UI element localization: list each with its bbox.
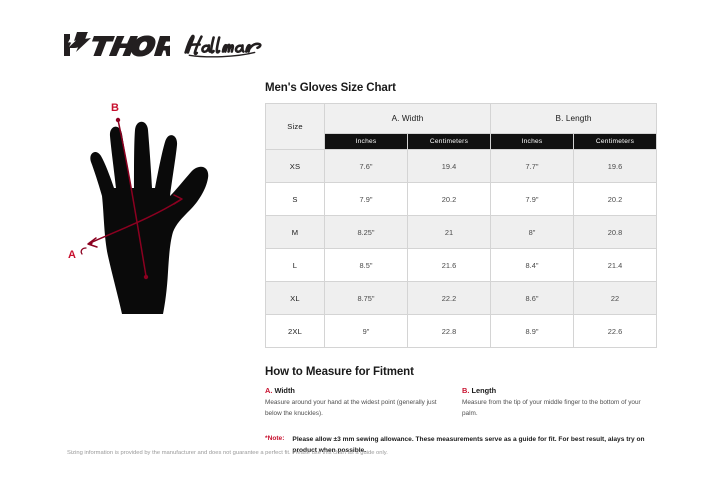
diagram-label-b: B — [111, 102, 119, 114]
cell-width-in: 8.5" — [325, 249, 408, 282]
column-header-width-centimeters: Centimeters — [408, 134, 491, 150]
column-header-length-inches: Inches — [491, 134, 574, 150]
cell-size: XS — [266, 150, 325, 183]
diagram-label-a: A — [68, 249, 76, 261]
cell-width-in: 8.25" — [325, 216, 408, 249]
cell-width-cm: 21.6 — [408, 249, 491, 282]
cell-length-in: 7.7" — [491, 150, 574, 183]
cell-width-cm: 22.2 — [408, 282, 491, 315]
table-row: XL 8.75" 22.2 8.6" 22 — [266, 282, 657, 315]
measure-item-heading: A. Width — [265, 386, 450, 395]
column-header-size: Size — [266, 104, 325, 150]
measure-body-b: Measure from the tip of your middle fing… — [462, 398, 647, 419]
cell-width-cm: 22.8 — [408, 315, 491, 348]
hallman-logo — [180, 31, 264, 64]
table-header: Size A. Width B. Length Inches Centimete… — [266, 104, 657, 150]
table-body: XS 7.6" 19.4 7.7" 19.6 S 7.9" 20.2 7.9" … — [266, 150, 657, 348]
table-row: M 8.25" 21 8" 20.8 — [266, 216, 657, 249]
cell-length-in: 8.9" — [491, 315, 574, 348]
cell-length-cm: 21.4 — [574, 249, 657, 282]
how-to-measure-columns: A. Width Measure around your hand at the… — [265, 386, 659, 419]
cell-length-cm: 20.8 — [574, 216, 657, 249]
cell-width-cm: 19.4 — [408, 150, 491, 183]
measure-label-b: Length — [469, 386, 496, 395]
cell-length-cm: 19.6 — [574, 150, 657, 183]
table-row: XS 7.6" 19.4 7.7" 19.6 — [266, 150, 657, 183]
measure-body-a: Measure around your hand at the widest p… — [265, 398, 450, 419]
cell-length-cm: 22.6 — [574, 315, 657, 348]
cell-size: 2XL — [266, 315, 325, 348]
table-header-row-groups: Size A. Width B. Length — [266, 104, 657, 134]
column-group-header-length: B. Length — [491, 104, 657, 134]
column-header-length-centimeters: Centimeters — [574, 134, 657, 150]
cell-length-in: 8.6" — [491, 282, 574, 315]
cell-size: L — [266, 249, 325, 282]
table-row: 2XL 9" 22.8 8.9" 22.6 — [266, 315, 657, 348]
cell-width-in: 8.75" — [325, 282, 408, 315]
table-row: S 7.9" 20.2 7.9" 20.2 — [266, 183, 657, 216]
column-group-header-width: A. Width — [325, 104, 491, 134]
how-to-measure-title: How to Measure for Fitment — [265, 366, 659, 378]
measure-item-heading: B. Length — [462, 386, 647, 395]
size-chart-table: Size A. Width B. Length Inches Centimete… — [265, 103, 657, 348]
cell-length-cm: 20.2 — [574, 183, 657, 216]
brand-logo-bar — [62, 30, 264, 65]
measure-item-length: B. Length Measure from the tip of your m… — [462, 386, 659, 419]
hand-measurement-diagram: B A — [58, 96, 268, 321]
footer-disclaimer: Sizing information is provided by the ma… — [67, 448, 397, 459]
cell-length-in: 8.4" — [491, 249, 574, 282]
cell-width-cm: 21 — [408, 216, 491, 249]
cell-size: M — [266, 216, 325, 249]
cell-size: S — [266, 183, 325, 216]
cell-length-in: 8" — [491, 216, 574, 249]
cell-width-in: 9" — [325, 315, 408, 348]
column-header-width-inches: Inches — [325, 134, 408, 150]
table-header-row-units: Inches Centimeters Inches Centimeters — [266, 134, 657, 150]
cell-width-cm: 20.2 — [408, 183, 491, 216]
table-row: L 8.5" 21.6 8.4" 21.4 — [266, 249, 657, 282]
measure-item-width: A. Width Measure around your hand at the… — [265, 386, 462, 419]
cell-width-in: 7.9" — [325, 183, 408, 216]
size-chart-panel: Men's Gloves Size Chart Size A. Width B.… — [265, 82, 659, 456]
measure-label-a: Width — [272, 386, 295, 395]
thor-logo — [62, 30, 170, 65]
cell-length-in: 7.9" — [491, 183, 574, 216]
page-title: Men's Gloves Size Chart — [265, 82, 659, 94]
cell-size: XL — [266, 282, 325, 315]
cell-length-cm: 22 — [574, 282, 657, 315]
cell-width-in: 7.6" — [325, 150, 408, 183]
